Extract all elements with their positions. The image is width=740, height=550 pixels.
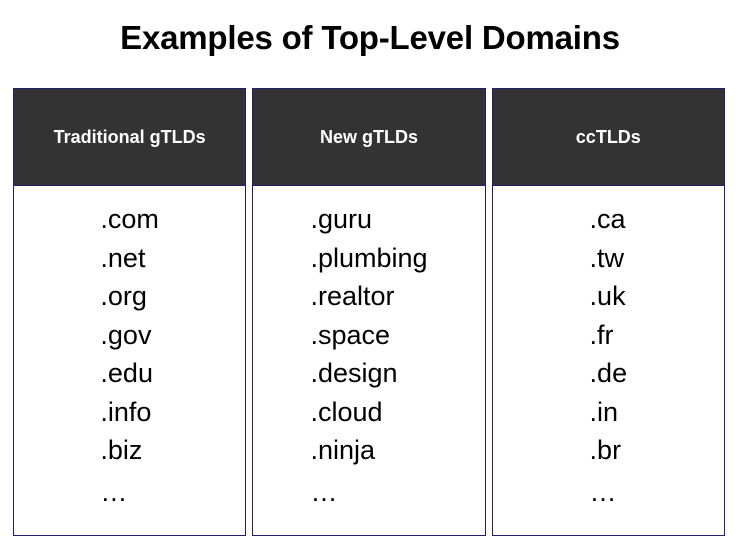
tld-table: Traditional gTLDs .com .net .org .gov .e… <box>13 88 725 536</box>
list-item: .ca <box>590 200 628 239</box>
list-item: .info <box>100 393 159 432</box>
list-item: .fr <box>590 316 628 355</box>
tld-column-new-gtlds: New gTLDs .guru .plumbing .realtor .spac… <box>252 88 485 536</box>
page-title: Examples of Top-Level Domains <box>0 18 740 58</box>
column-body-traditional-gtlds: .com .net .org .gov .edu .info .biz … <box>14 186 245 535</box>
list-item: .br <box>590 431 628 470</box>
list-item: .realtor <box>310 277 427 316</box>
tld-list-traditional-gtlds: .com .net .org .gov .edu .info .biz … <box>100 200 159 535</box>
list-item-ellipsis: … <box>100 470 159 514</box>
tld-column-cctlds: ccTLDs .ca .tw .uk .fr .de .in .br … <box>492 88 725 536</box>
list-item: .space <box>310 316 427 355</box>
list-item-ellipsis: … <box>310 470 427 514</box>
list-item-ellipsis: … <box>590 470 628 514</box>
list-item: .de <box>590 354 628 393</box>
list-item: .in <box>590 393 628 432</box>
list-item: .plumbing <box>310 239 427 278</box>
column-header-traditional-gtlds: Traditional gTLDs <box>13 88 246 186</box>
list-item: .tw <box>590 239 628 278</box>
list-item: .net <box>100 239 159 278</box>
list-item: .edu <box>100 354 159 393</box>
column-body-new-gtlds: .guru .plumbing .realtor .space .design … <box>253 186 484 535</box>
list-item: .gov <box>100 316 159 355</box>
list-item: .design <box>310 354 427 393</box>
column-body-cctlds: .ca .tw .uk .fr .de .in .br … <box>493 186 724 535</box>
tld-column-traditional-gtlds: Traditional gTLDs .com .net .org .gov .e… <box>13 88 246 536</box>
tld-list-new-gtlds: .guru .plumbing .realtor .space .design … <box>310 200 427 535</box>
column-header-new-gtlds: New gTLDs <box>252 88 485 186</box>
column-header-cctlds: ccTLDs <box>492 88 725 186</box>
list-item: .guru <box>310 200 427 239</box>
list-item: .cloud <box>310 393 427 432</box>
list-item: .com <box>100 200 159 239</box>
slide-canvas: Examples of Top-Level Domains Traditiona… <box>0 0 740 550</box>
list-item: .ninja <box>310 431 427 470</box>
list-item: .biz <box>100 431 159 470</box>
tld-list-cctlds: .ca .tw .uk .fr .de .in .br … <box>590 200 628 535</box>
list-item: .uk <box>590 277 628 316</box>
list-item: .org <box>100 277 159 316</box>
